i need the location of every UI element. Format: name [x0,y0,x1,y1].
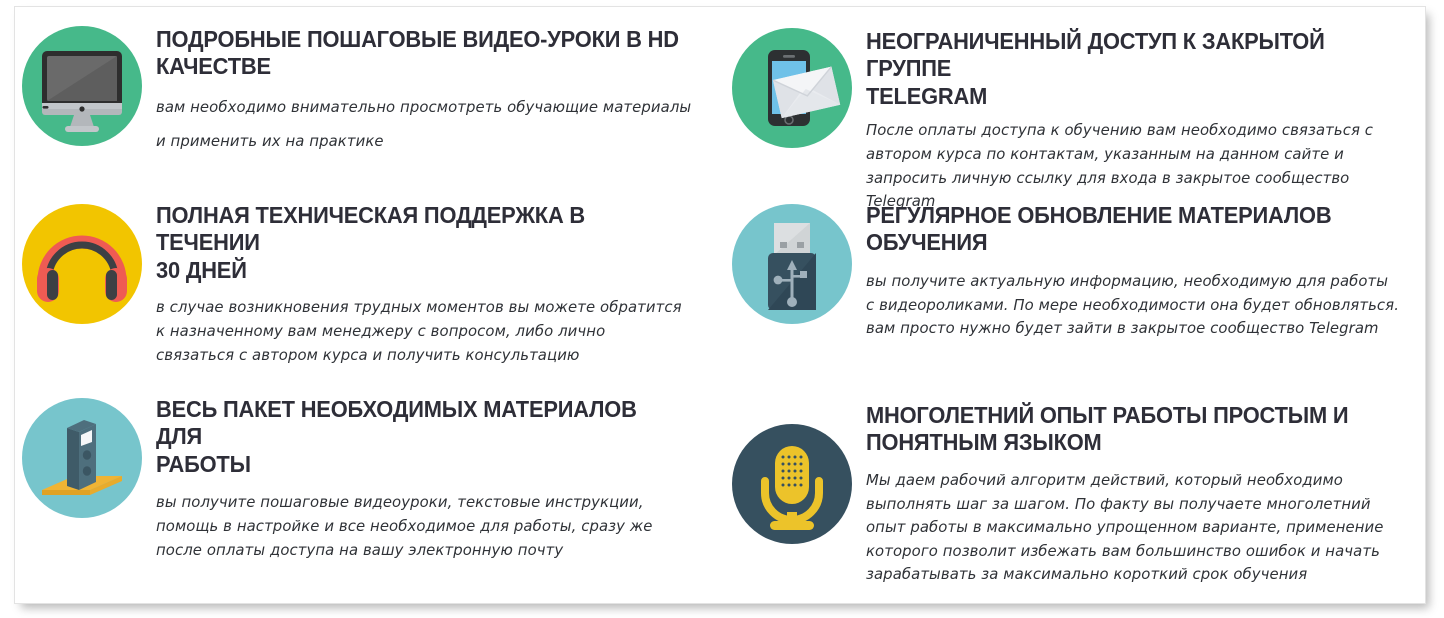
imac-desktop-icon [22,26,142,146]
feature-title: ПОЛНАЯ ТЕХНИЧЕСКАЯ ПОДДЕРЖКА В ТЕЧЕНИИ 3… [156,202,681,284]
features-grid: ПОДРОБНЫЕ ПОШАГОВЫЕ ВИДЕО-УРОКИ В HD КАЧ… [0,0,1444,618]
feature-title: НЕОГРАНИЧЕННЫЙ ДОСТУП К ЗАКРЫТОЙ ГРУППЕ … [866,28,1404,110]
feature-icon [732,28,852,148]
feature-card: ПОЛНАЯ ТЕХНИЧЕСКАЯ ПОДДЕРЖКА В ТЕЧЕНИИ 3… [0,196,720,374]
feature-text: МНОГОЛЕТНИЙ ОПЫТ РАБОТЫ ПРОСТЫМ И ПОНЯТН… [852,402,1444,587]
feature-text: РЕГУЛЯРНОЕ ОБНОВЛЕНИЕ МАТЕРИАЛОВ ОБУЧЕНИ… [852,202,1444,341]
feature-icon [22,398,142,518]
feature-text: НЕОГРАНИЧЕННЫЙ ДОСТУП К ЗАКРЫТОЙ ГРУППЕ … [852,28,1444,214]
feature-text: ПОЛНАЯ ТЕХНИЧЕСКАЯ ПОДДЕРЖКА В ТЕЧЕНИИ 3… [142,202,720,367]
feature-body: в случае возникновения трудных моментов … [156,296,703,367]
feature-body: Мы даем рабочий алгоритм действий, котор… [866,469,1427,587]
feature-card: ПОДРОБНЫЕ ПОШАГОВЫЕ ВИДЕО-УРОКИ В HD КАЧ… [0,0,720,196]
feature-body: вам необходимо внимательно просмотреть о… [156,90,703,159]
feature-title: МНОГОЛЕТНИЙ ОПЫТ РАБОТЫ ПРОСТЫМ И ПОНЯТН… [866,402,1404,457]
feature-card: НЕОГРАНИЧЕННЫЙ ДОСТУП К ЗАКРЫТОЙ ГРУППЕ … [720,0,1444,196]
feature-title: ВЕСЬ ПАКЕТ НЕОБХОДИМЫХ МАТЕРИАЛОВ ДЛЯ РА… [156,396,681,478]
feature-body: вы получите пошаговые видеоуроки, тексто… [156,491,703,562]
feature-text: ПОДРОБНЫЕ ПОШАГОВЫЕ ВИДЕО-УРОКИ В HD КАЧ… [142,26,720,159]
features-page: ПОДРОБНЫЕ ПОШАГОВЫЕ ВИДЕО-УРОКИ В HD КАЧ… [0,0,1444,618]
headphones-icon [22,204,142,324]
feature-card: ВЕСЬ ПАКЕТ НЕОБХОДИМЫХ МАТЕРИАЛОВ ДЛЯ РА… [0,374,720,618]
feature-icon [22,26,142,146]
feature-title: ПОДРОБНЫЕ ПОШАГОВЫЕ ВИДЕО-УРОКИ В HD КАЧ… [156,26,681,81]
feature-card: МНОГОЛЕТНИЙ ОПЫТ РАБОТЫ ПРОСТЫМ И ПОНЯТН… [720,374,1444,618]
feature-icon [22,204,142,324]
smartphone-envelope-icon [732,28,852,148]
usb-flash-drive-icon [732,204,852,324]
feature-title: РЕГУЛЯРНОЕ ОБНОВЛЕНИЕ МАТЕРИАЛОВ ОБУЧЕНИ… [866,202,1404,257]
binder-folder-icon [22,398,142,518]
feature-icon [732,424,852,544]
feature-text: ВЕСЬ ПАКЕТ НЕОБХОДИМЫХ МАТЕРИАЛОВ ДЛЯ РА… [142,396,720,562]
feature-icon [732,204,852,324]
feature-card: РЕГУЛЯРНОЕ ОБНОВЛЕНИЕ МАТЕРИАЛОВ ОБУЧЕНИ… [720,196,1444,374]
feature-body: вы получите актуальную информацию, необх… [866,270,1427,341]
microphone-icon [732,424,852,544]
